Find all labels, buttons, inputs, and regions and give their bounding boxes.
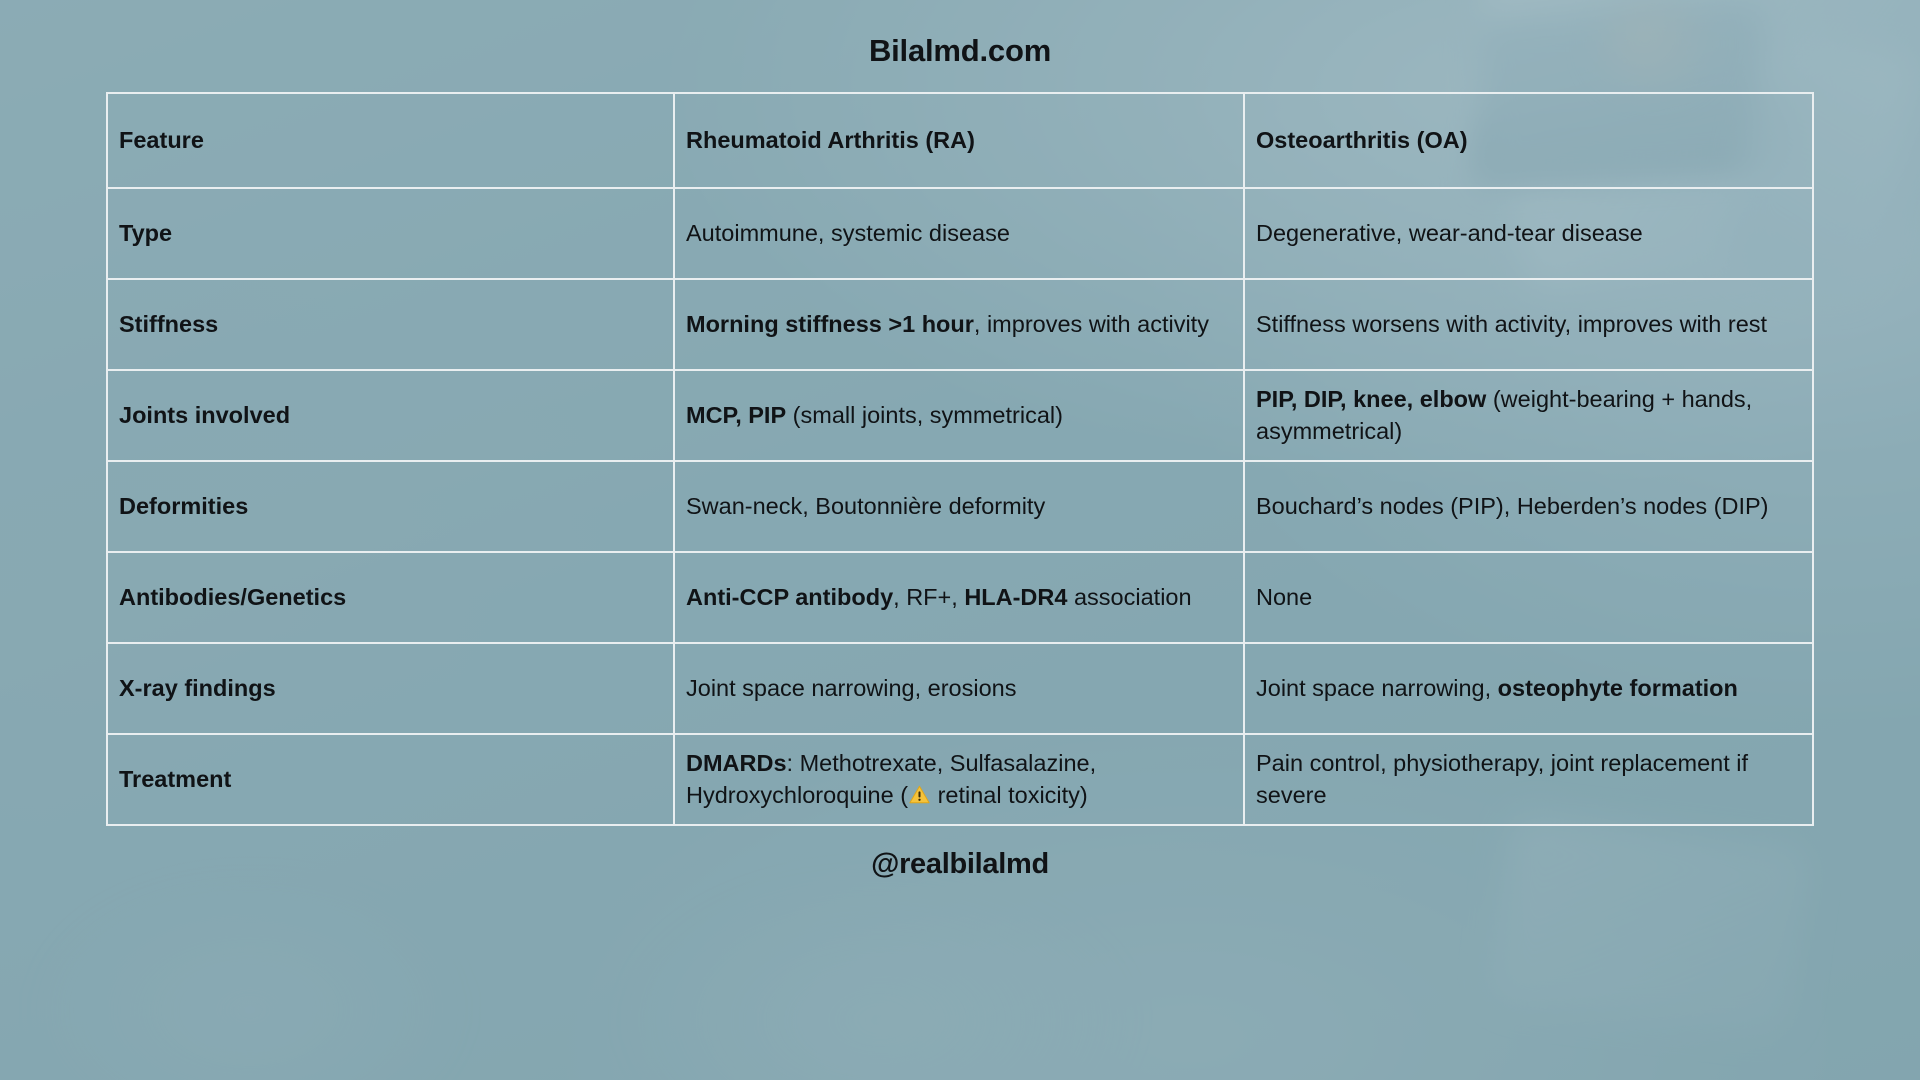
cell-text: None bbox=[1256, 584, 1312, 610]
cell-text-emphasis: Anti-CCP antibody bbox=[686, 584, 893, 610]
cell-rheumatoid-arthritis: Joint space narrowing, erosions bbox=[674, 643, 1244, 734]
cell-feature: Joints involved bbox=[107, 370, 674, 461]
cell-rheumatoid-arthritis: Autoimmune, systemic disease bbox=[674, 188, 1244, 279]
cell-text: Pain control, physiotherapy, joint repla… bbox=[1256, 750, 1748, 807]
social-handle: @realbilalmd bbox=[871, 848, 1049, 881]
table-header-row: Feature Rheumatoid Arthritis (RA) Osteoa… bbox=[107, 93, 1813, 188]
cell-osteoarthritis: Stiffness worsens with activity, improve… bbox=[1244, 279, 1813, 370]
cell-feature: X-ray findings bbox=[107, 643, 674, 734]
cell-text-emphasis: HLA-DR4 bbox=[964, 584, 1067, 610]
cell-text: Autoimmune, systemic disease bbox=[686, 220, 1010, 246]
table-row: X-ray findingsJoint space narrowing, ero… bbox=[107, 643, 1813, 734]
cell-osteoarthritis: None bbox=[1244, 552, 1813, 643]
cell-osteoarthritis: Pain control, physiotherapy, joint repla… bbox=[1244, 734, 1813, 825]
cell-text-emphasis: DMARDs bbox=[686, 750, 787, 776]
cell-text: , improves with activity bbox=[974, 311, 1209, 337]
cell-osteoarthritis: Joint space narrowing, osteophyte format… bbox=[1244, 643, 1813, 734]
table-row: TreatmentDMARDs: Methotrexate, Sulfasala… bbox=[107, 734, 1813, 825]
comparison-table: Feature Rheumatoid Arthritis (RA) Osteoa… bbox=[106, 92, 1814, 826]
column-header-oa: Osteoarthritis (OA) bbox=[1244, 93, 1813, 188]
table-header: Feature Rheumatoid Arthritis (RA) Osteoa… bbox=[107, 93, 1813, 188]
slide-container: Bilalmd.com Feature Rheumatoid Arthritis… bbox=[0, 0, 1920, 1080]
cell-text: Joint space narrowing, erosions bbox=[686, 675, 1016, 701]
cell-feature: Stiffness bbox=[107, 279, 674, 370]
cell-osteoarthritis: Bouchard’s nodes (PIP), Heberden’s nodes… bbox=[1244, 461, 1813, 552]
cell-osteoarthritis: PIP, DIP, knee, elbow (weight-bearing + … bbox=[1244, 370, 1813, 461]
cell-text-emphasis: osteophyte formation bbox=[1498, 675, 1738, 701]
cell-text: Joint space narrowing, bbox=[1256, 675, 1498, 701]
cell-text: retinal toxicity) bbox=[931, 782, 1088, 808]
column-header-feature: Feature bbox=[107, 93, 674, 188]
cell-text: (small joints, symmetrical) bbox=[786, 402, 1063, 428]
cell-rheumatoid-arthritis: Morning stiffness >1 hour, improves with… bbox=[674, 279, 1244, 370]
cell-rheumatoid-arthritis: MCP, PIP (small joints, symmetrical) bbox=[674, 370, 1244, 461]
cell-text: Bouchard’s nodes (PIP), Heberden’s nodes… bbox=[1256, 493, 1769, 519]
cell-feature: Antibodies/Genetics bbox=[107, 552, 674, 643]
cell-text-emphasis: PIP, DIP, knee, elbow bbox=[1256, 386, 1486, 412]
warning-triangle-icon bbox=[908, 782, 931, 808]
cell-feature: Treatment bbox=[107, 734, 674, 825]
cell-text: association bbox=[1067, 584, 1191, 610]
cell-text: Swan-neck, Boutonnière deformity bbox=[686, 493, 1045, 519]
cell-rheumatoid-arthritis: Anti-CCP antibody, RF+, HLA-DR4 associat… bbox=[674, 552, 1244, 643]
table-row: Joints involvedMCP, PIP (small joints, s… bbox=[107, 370, 1813, 461]
table-row: Antibodies/GeneticsAnti-CCP antibody, RF… bbox=[107, 552, 1813, 643]
table-row: StiffnessMorning stiffness >1 hour, impr… bbox=[107, 279, 1813, 370]
column-header-ra: Rheumatoid Arthritis (RA) bbox=[674, 93, 1244, 188]
table-row: DeformitiesSwan-neck, Boutonnière deform… bbox=[107, 461, 1813, 552]
cell-feature: Type bbox=[107, 188, 674, 279]
page-title: Bilalmd.com bbox=[869, 33, 1051, 69]
cell-rheumatoid-arthritis: DMARDs: Methotrexate, Sulfasalazine, Hyd… bbox=[674, 734, 1244, 825]
cell-text-emphasis: Morning stiffness >1 hour bbox=[686, 311, 974, 337]
cell-feature: Deformities bbox=[107, 461, 674, 552]
cell-text: Degenerative, wear-and-tear disease bbox=[1256, 220, 1643, 246]
cell-osteoarthritis: Degenerative, wear-and-tear disease bbox=[1244, 188, 1813, 279]
cell-text-emphasis: MCP, PIP bbox=[686, 402, 786, 428]
table-row: TypeAutoimmune, systemic diseaseDegenera… bbox=[107, 188, 1813, 279]
cell-text: Stiffness worsens with activity, improve… bbox=[1256, 311, 1767, 337]
cell-rheumatoid-arthritis: Swan-neck, Boutonnière deformity bbox=[674, 461, 1244, 552]
table-body: TypeAutoimmune, systemic diseaseDegenera… bbox=[107, 188, 1813, 825]
cell-text: , RF+, bbox=[893, 584, 964, 610]
